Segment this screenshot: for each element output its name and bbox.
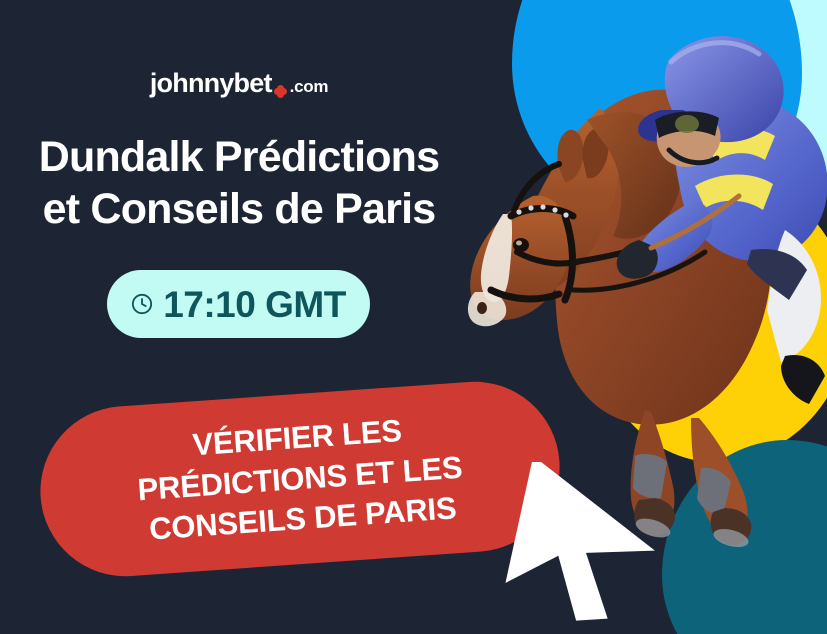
logo-wordmark: johnnybet <box>150 68 272 99</box>
check-predictions-button[interactable]: VÉRIFIER LES PRÉDICTIONS ET LES CONSEILS… <box>35 376 566 582</box>
logo-tld: .com <box>290 77 328 97</box>
event-time-badge: 17:10 GMT <box>107 270 370 338</box>
headline-line-1: Dundalk Prédictions <box>0 131 478 183</box>
headline-line-2: et Conseils de Paris <box>0 183 478 235</box>
mouse-cursor-icon <box>505 462 680 622</box>
page-title: Dundalk Prédictions et Conseils de Paris <box>0 131 478 236</box>
promo-banner: johnnybet .com Dundalk Prédictions et Co… <box>0 0 827 634</box>
site-logo[interactable]: johnnybet .com <box>0 68 478 99</box>
clock-icon <box>131 293 153 315</box>
clover-icon <box>274 85 287 98</box>
event-time-text: 17:10 GMT <box>163 286 346 323</box>
cta-button-label: VÉRIFIER LES PRÉDICTIONS ET LES CONSEILS… <box>133 406 466 551</box>
